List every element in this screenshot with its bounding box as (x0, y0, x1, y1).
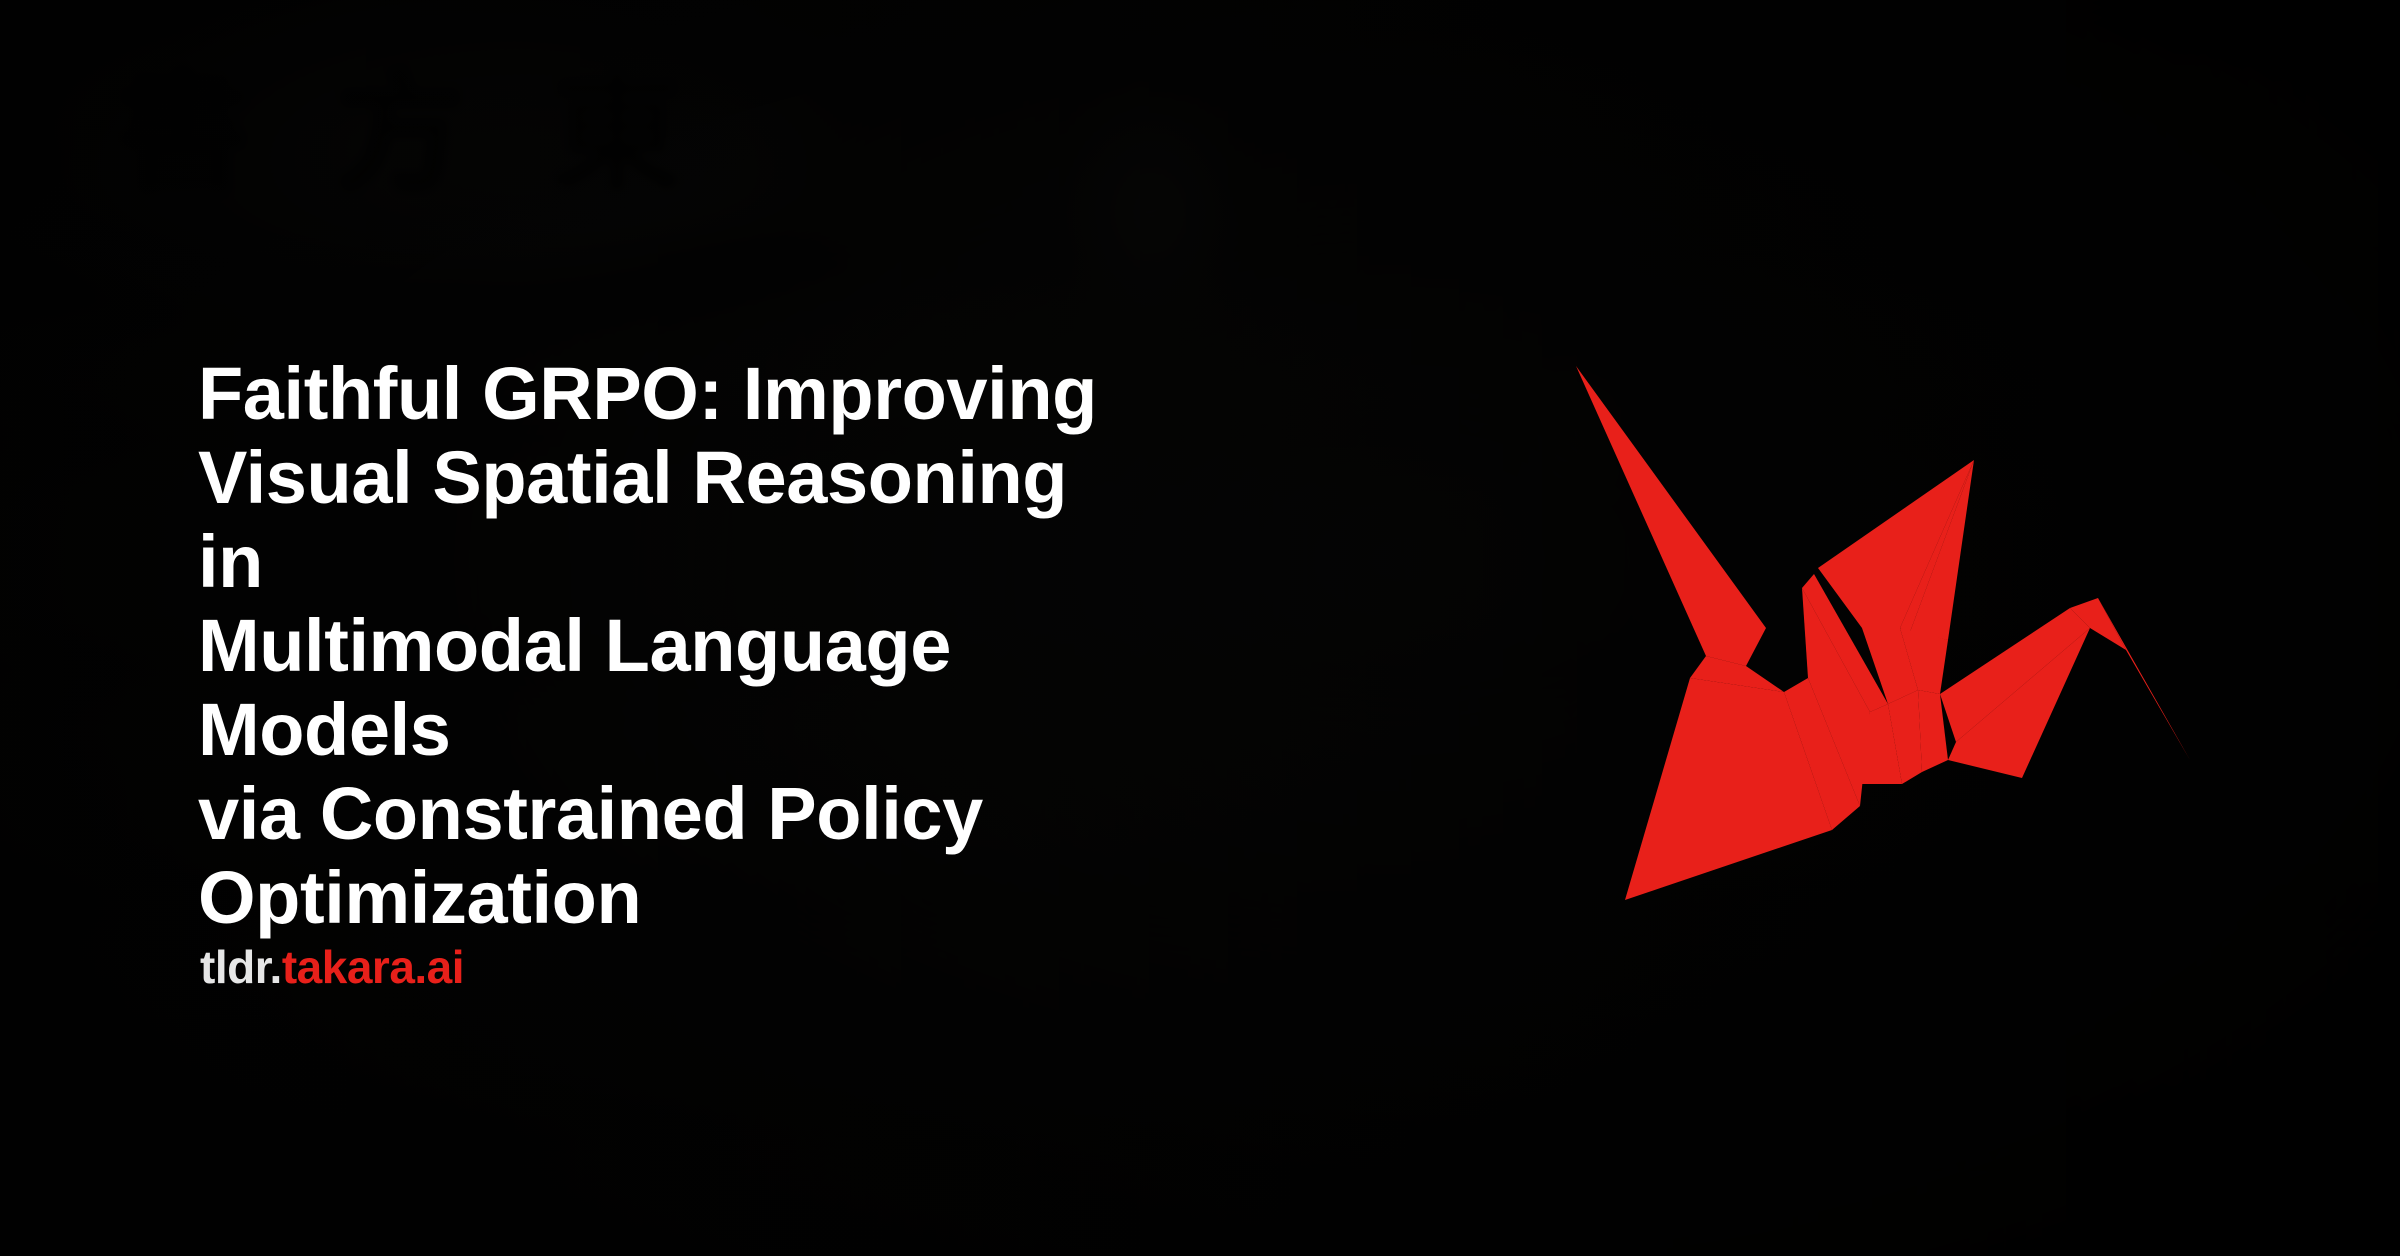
brand-domain: takara.ai (282, 941, 464, 993)
origami-crane-icon (1576, 366, 2190, 900)
brand-wordmark[interactable]: tldr.takara.ai (200, 944, 464, 990)
brand-prefix: tldr. (200, 941, 282, 993)
page-title: Faithful GRPO: Improving Visual Spatial … (198, 352, 1098, 940)
card-content: Faithful GRPO: Improving Visual Spatial … (0, 0, 2400, 1256)
paper-share-card: 書 方 東 Faithful GRPO: Improving Visual Sp… (0, 0, 2400, 1256)
origami-crane-logo (1570, 360, 2210, 900)
